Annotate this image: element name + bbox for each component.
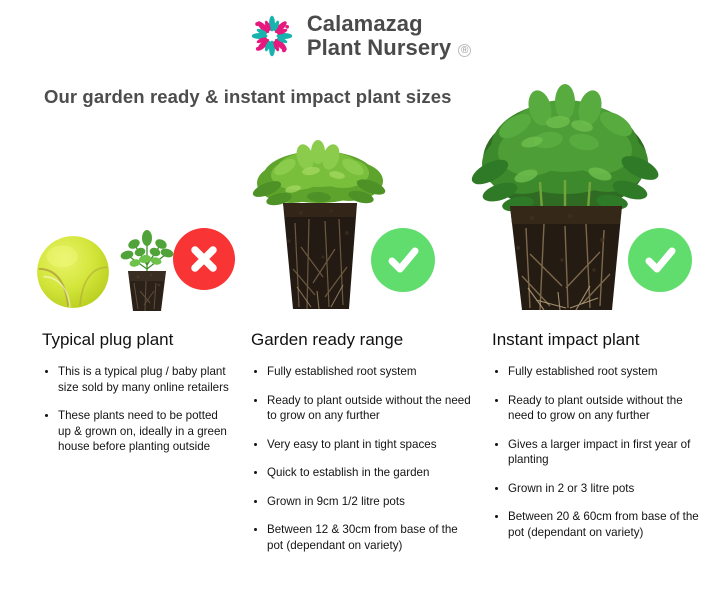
list-item: Grown in 2 or 3 litre pots [492,481,703,497]
column-1-bullet-list: This is a typical plug / baby plant size… [42,364,233,455]
brand-name-line2: Plant Nursery [307,36,451,60]
column-instant-impact-plant: Instant impact plant Fully established r… [478,120,703,553]
list-item: Grown in 9cm 1/2 litre pots [251,494,473,510]
brand-name-line2-row: Plant Nursery ® [307,36,471,60]
garden-ready-plant-image [239,137,399,312]
column-1-imagery [28,120,233,330]
column-2-title: Garden ready range [251,330,473,350]
column-typical-plug-plant: Typical plug plant This is a typical plu… [28,120,233,468]
plug-plant-image [116,225,178,313]
instant-impact-plant-image [470,64,660,314]
list-item: Very easy to plant in tight spaces [251,437,473,453]
column-3-imagery [478,120,703,330]
list-item: This is a typical plug / baby plant size… [42,364,233,395]
brand-header: Calamazag Plant Nursery ® [0,12,720,60]
list-item: Gives a larger impact in first year of p… [492,437,703,468]
list-item: Fully established root system [251,364,473,380]
column-2-bullet-list: Fully established root system Ready to p… [251,364,473,553]
list-item: Ready to plant outside without the need … [251,393,473,424]
flower-starburst-icon [249,13,295,59]
check-circle-icon [371,228,435,292]
brand-lockup: Calamazag Plant Nursery ® [249,12,471,60]
column-3-title: Instant impact plant [492,330,703,350]
list-item: These plants need to be potted up & grow… [42,408,233,455]
list-item: Quick to establish in the garden [251,465,473,481]
page-title: Our garden ready & instant impact plant … [44,86,452,108]
brand-wordmark: Calamazag Plant Nursery ® [307,12,471,60]
list-item: Ready to plant outside without the need … [492,393,703,424]
column-1-title: Typical plug plant [42,330,233,350]
list-item: Between 20 & 60cm from base of the pot (… [492,509,703,540]
registered-trademark-icon: ® [458,44,471,57]
brand-name-line1: Calamazag [307,12,471,36]
tennis-ball-image [34,233,112,311]
column-2-imagery [243,120,473,330]
column-3-bullet-list: Fully established root system Ready to p… [492,364,703,540]
list-item: Between 12 & 30cm from base of the pot (… [251,522,473,553]
cross-circle-icon [173,228,235,290]
check-circle-icon [628,228,692,292]
list-item: Fully established root system [492,364,703,380]
column-garden-ready-range: Garden ready range Fully established roo… [243,120,473,566]
